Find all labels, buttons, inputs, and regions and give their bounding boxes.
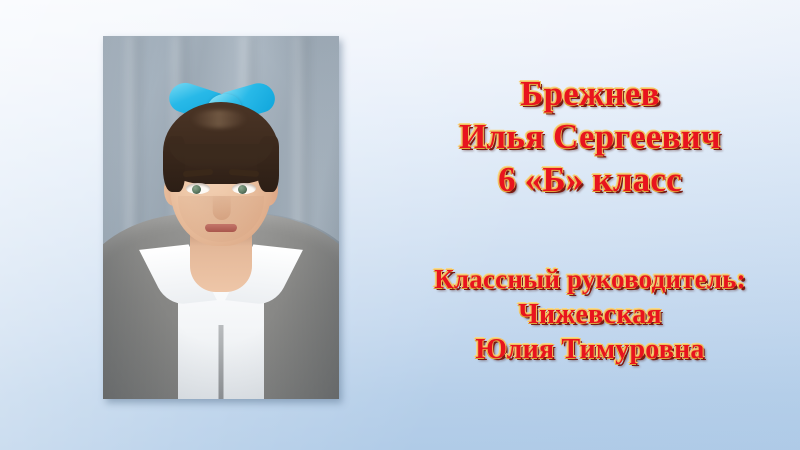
iris-right bbox=[238, 185, 247, 194]
presentation-slide: Брежнев Илья Сергеевич 6 «Б» класс Класс… bbox=[0, 0, 800, 450]
iris-left bbox=[192, 185, 201, 194]
student-class: 6 «Б» класс bbox=[380, 158, 800, 201]
teacher-block: Классный руководитель: Чижевская Юлия Ти… bbox=[380, 262, 800, 367]
teacher-surname: Чижевская bbox=[380, 297, 800, 332]
student-name-block: Брежнев Илья Сергеевич 6 «Б» класс bbox=[380, 72, 800, 201]
nose bbox=[213, 194, 231, 220]
student-photo bbox=[103, 36, 339, 399]
mouth bbox=[205, 224, 237, 232]
teacher-given-name: Юлия Тимуровна bbox=[380, 332, 800, 367]
student-photo-canvas bbox=[103, 36, 339, 399]
hair-highlight bbox=[191, 110, 247, 128]
teacher-role-label: Классный руководитель: bbox=[380, 262, 800, 297]
student-given-name: Илья Сергеевич bbox=[380, 115, 800, 158]
student-surname: Брежнев bbox=[380, 72, 800, 115]
cardigan-zipper bbox=[219, 325, 224, 399]
text-column: Брежнев Илья Сергеевич 6 «Б» класс Класс… bbox=[380, 0, 800, 450]
